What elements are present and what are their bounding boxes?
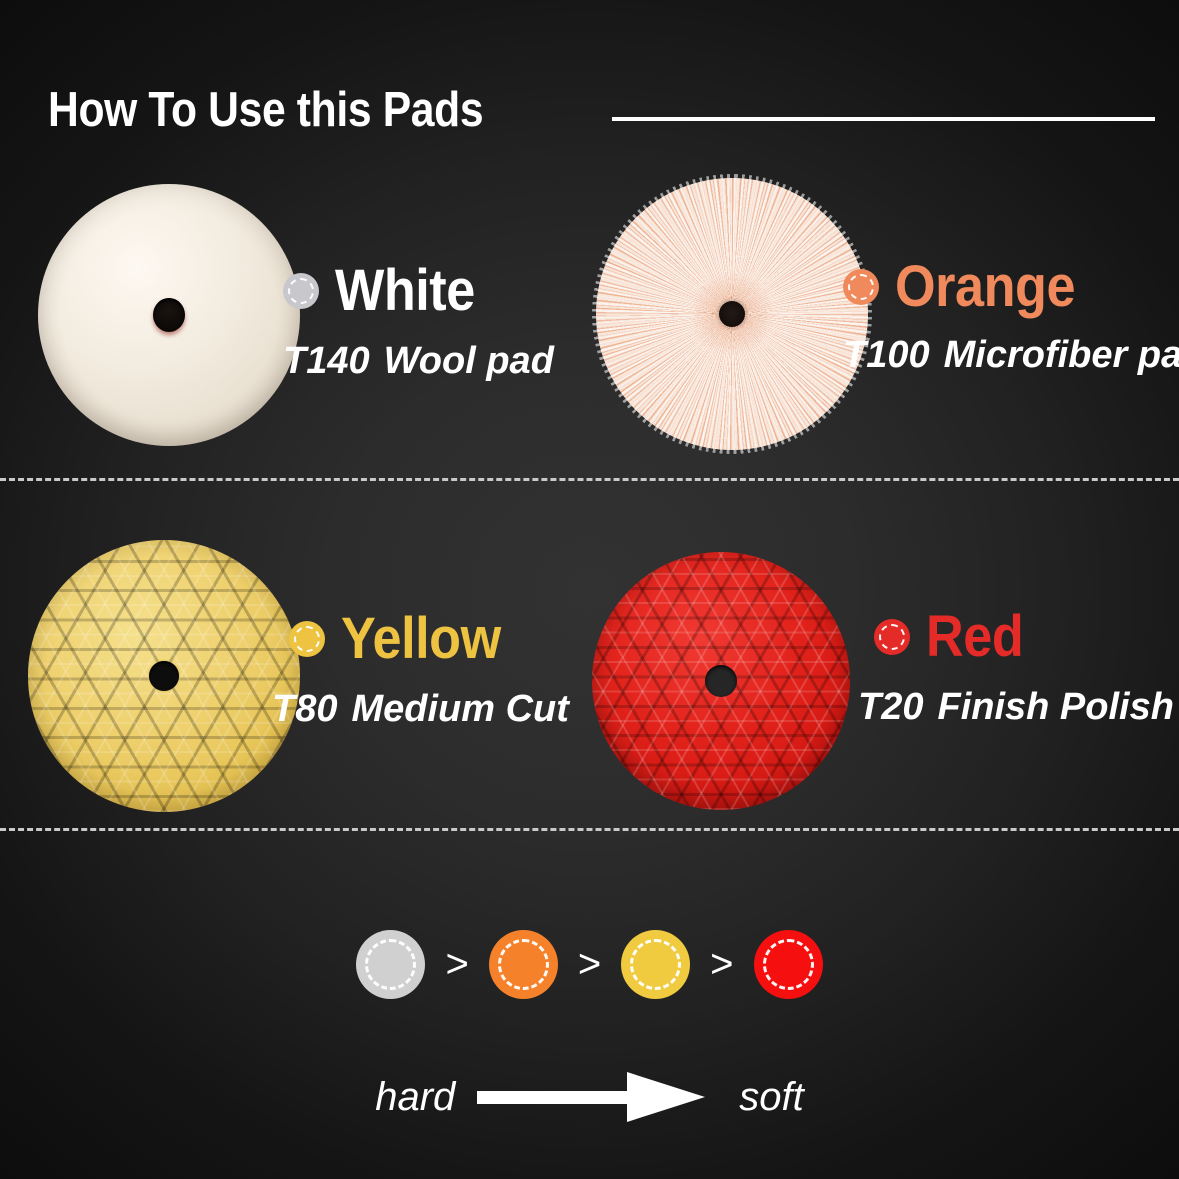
sequence-dot-yellow <box>621 930 690 999</box>
pad-code-white: T140 <box>283 340 370 382</box>
pad-center-hole <box>705 665 737 697</box>
pad-name-row-orange: Orange <box>843 258 1179 316</box>
scale-label-hard: hard <box>375 1077 455 1117</box>
pad-image-orange <box>596 178 868 450</box>
pad-center-hole <box>153 298 185 332</box>
page-title: How To Use this Pads <box>48 86 483 135</box>
pad-code-yellow: T80 <box>272 688 337 730</box>
dashed-ring-icon <box>498 939 549 990</box>
dashed-ring-icon <box>294 626 320 652</box>
infographic-page: How To Use this Pads White T140Wool pad … <box>0 0 1179 1179</box>
pad-label-white: White T140Wool pad <box>283 262 554 380</box>
pad-image-white <box>38 184 300 446</box>
title-divider-rule <box>612 117 1155 121</box>
pad-type-orange: Microfiber pad <box>944 334 1179 376</box>
pad-label-red: Red T20Finish Polish <box>874 608 1174 726</box>
dashed-ring-icon <box>365 939 416 990</box>
pad-label-orange: Orange T100Microfiber pad <box>843 258 1179 374</box>
pad-center-hole <box>149 661 179 691</box>
pad-description-yellow: T80Medium Cut <box>272 690 569 728</box>
section-divider-2 <box>0 828 1179 831</box>
pad-name-orange: Orange <box>895 258 1075 316</box>
sequence-separator-1: > <box>445 944 468 984</box>
dashed-ring-icon <box>288 278 314 304</box>
pad-type-white: Wool pad <box>384 340 554 382</box>
pad-name-white: White <box>335 262 475 320</box>
dashed-ring-icon <box>763 939 814 990</box>
section-divider-1 <box>0 478 1179 481</box>
color-dot-red <box>874 619 910 655</box>
pad-name-row-yellow: Yellow <box>289 610 569 668</box>
hardness-sequence: > > > <box>0 930 1179 999</box>
pad-name-red: Red <box>926 608 1023 666</box>
dashed-ring-icon <box>630 939 681 990</box>
pad-type-yellow: Medium Cut <box>351 688 568 730</box>
pad-name-yellow: Yellow <box>341 610 501 668</box>
hardness-scale: hard soft <box>0 1068 1179 1126</box>
pad-label-yellow: Yellow T80Medium Cut <box>289 610 569 728</box>
right-arrow-icon <box>477 1068 717 1126</box>
pad-description-orange: T100Microfiber pad <box>843 336 1179 374</box>
dashed-ring-icon <box>879 624 905 650</box>
sequence-separator-2: > <box>578 944 601 984</box>
color-dot-orange <box>843 269 879 305</box>
dashed-ring-icon <box>848 274 874 300</box>
pad-code-orange: T100 <box>843 334 930 376</box>
pad-type-red: Finish Polish <box>937 686 1173 728</box>
pad-image-yellow <box>28 540 300 812</box>
sequence-dot-gray <box>356 930 425 999</box>
pad-description-red: T20Finish Polish <box>858 688 1174 726</box>
color-dot-yellow <box>289 621 325 657</box>
pad-name-row-red: Red <box>874 608 1174 666</box>
pad-name-row-white: White <box>283 262 554 320</box>
pad-center-hole <box>719 301 745 327</box>
sequence-dot-orange <box>489 930 558 999</box>
pad-code-red: T20 <box>858 686 923 728</box>
sequence-separator-3: > <box>710 944 733 984</box>
pad-image-red <box>592 552 850 810</box>
sequence-dot-red <box>754 930 823 999</box>
color-dot-white <box>283 273 319 309</box>
pad-description-white: T140Wool pad <box>283 342 554 380</box>
scale-label-soft: soft <box>739 1077 803 1117</box>
